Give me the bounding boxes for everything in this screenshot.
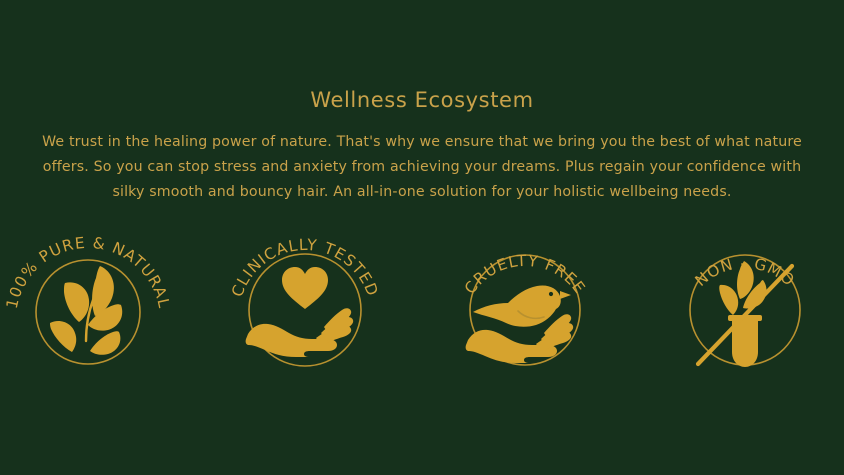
badge-ring [36,260,140,364]
badge-pure-natural[interactable]: 100% PURE & NATURAL [3,228,173,398]
intro-line-3: silky smooth and bouncy hair. An all-in-… [28,180,816,205]
wellness-ecosystem-banner: Wellness Ecosystem We trust in the heali… [0,0,844,475]
leaf-branch-icon [50,266,122,355]
hand-holding-heart-icon [246,267,354,357]
page-title: Wellness Ecosystem [0,88,844,112]
intro-paragraph: We trust in the healing power of nature.… [28,130,816,205]
badge-non-gmo[interactable]: NON - GMO [660,228,830,398]
badge-clinically-tested[interactable]: CLINICALLY TESTED [220,228,390,398]
trust-badge-row: 100% PURE & NATURAL [0,228,844,398]
badge-cruelty-free[interactable]: CRUELTY FREE [440,228,610,398]
bird-on-hand-icon [466,285,574,363]
intro-line-2: offers. So you can stop stress and anxie… [28,155,816,180]
intro-line-1: We trust in the healing power of nature.… [28,130,816,155]
